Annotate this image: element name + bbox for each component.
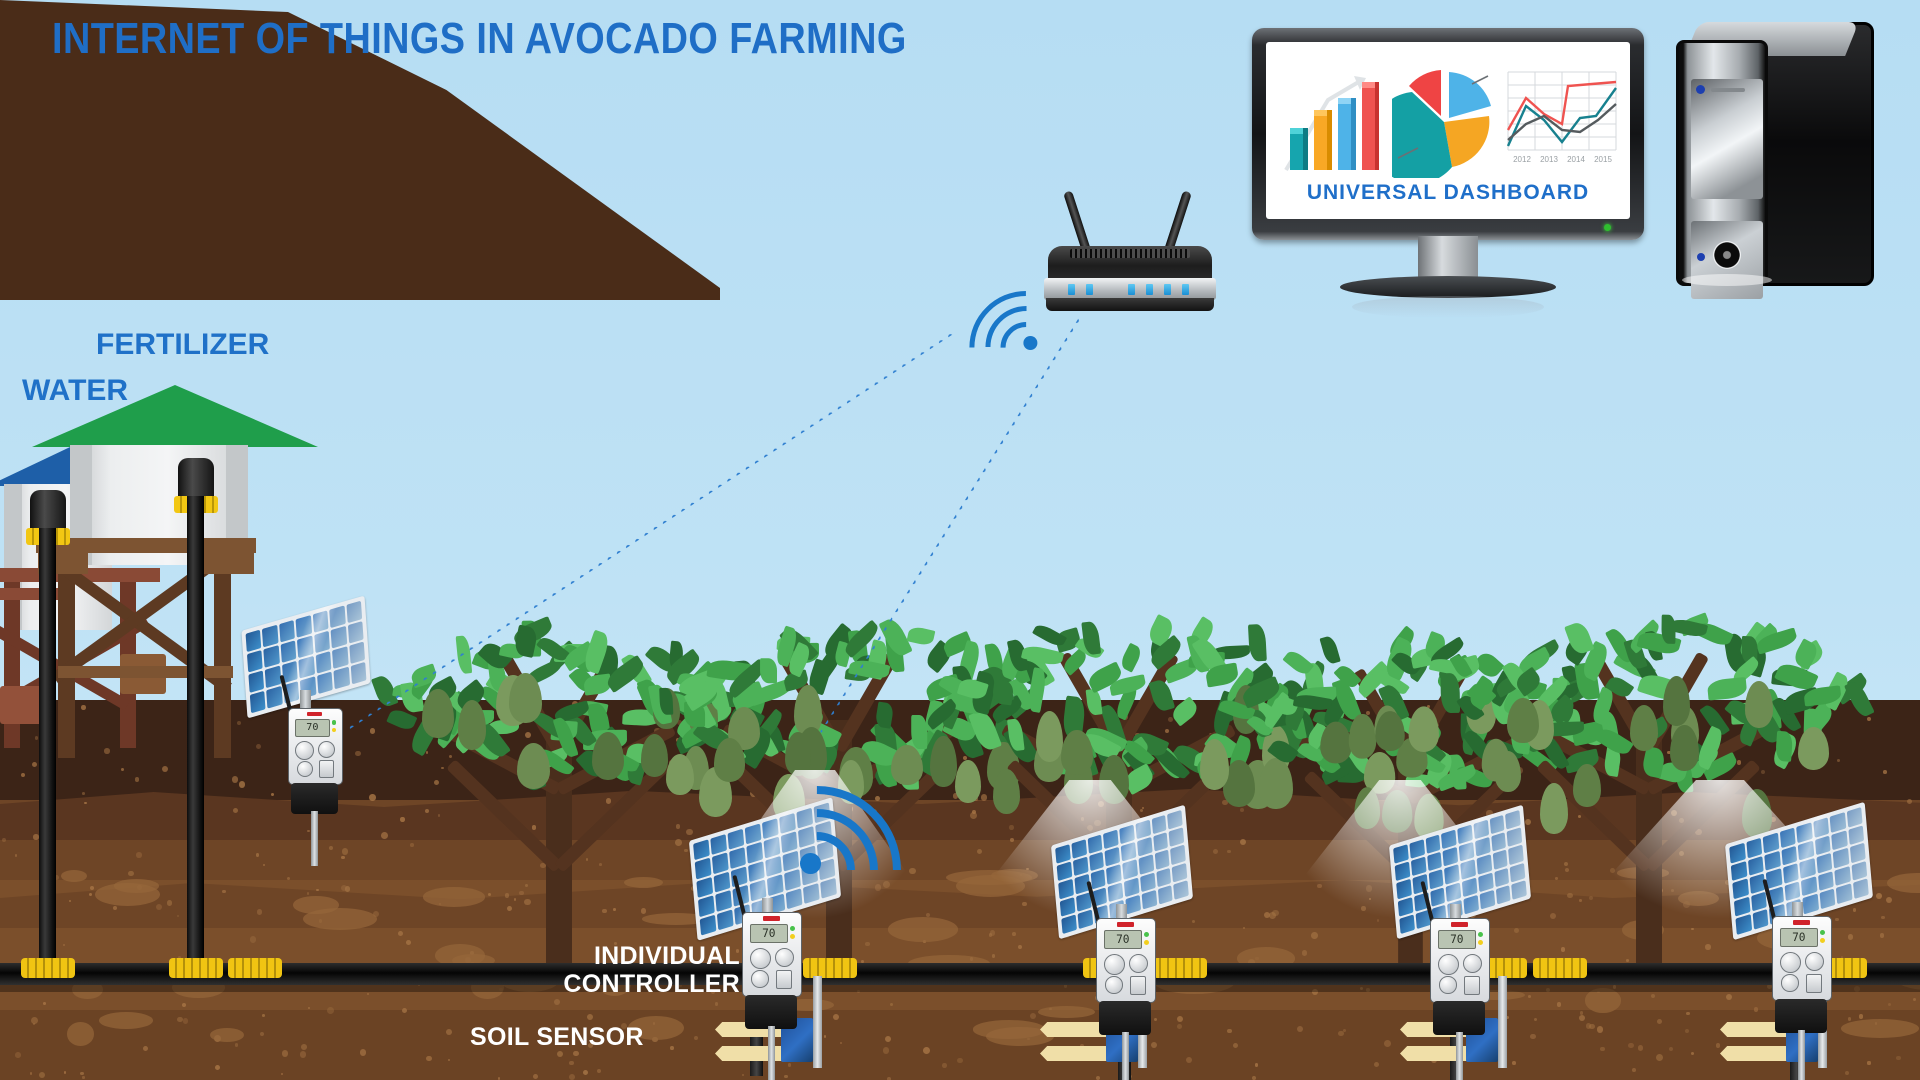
controller-valve-body: [1775, 999, 1827, 1033]
desktop-monitor[interactable]: 2012 2013 2014 2015 UNIVERSAL DASHBOARD: [1252, 28, 1644, 288]
router-led-3: [1128, 284, 1135, 295]
controller-dial-left[interactable]: [1780, 952, 1801, 973]
monitor-power-led: [1604, 224, 1611, 231]
pipe-fitting: [1153, 958, 1207, 978]
svg-text:2013: 2013: [1540, 155, 1558, 164]
router-vents: [1070, 249, 1190, 258]
pc-front-panel: [1676, 40, 1768, 286]
controller-dial-bottom[interactable]: [1439, 976, 1456, 993]
avocado-fruit: [1745, 681, 1774, 729]
server-tower[interactable]: [1672, 22, 1868, 290]
avocado-fruit: [422, 689, 453, 738]
pc-optical-bay: [1691, 79, 1763, 199]
controller-dial-left[interactable]: [1438, 954, 1459, 975]
tree-leaf: [1118, 643, 1143, 673]
wifi-icon-router: [975, 300, 1037, 355]
controller-brand-bar: [307, 712, 323, 716]
avocado-fruit: [517, 743, 550, 789]
individual-controller[interactable]: 70: [288, 708, 343, 825]
controller-indicator-yellow: [1144, 940, 1149, 945]
wireless-router[interactable]: [1040, 190, 1220, 310]
fertilizer-tank-roof: [32, 385, 318, 447]
avocado-fruit: [458, 700, 487, 749]
controller-brand-bar: [1451, 922, 1468, 926]
controller-mount-stem: [1798, 1030, 1805, 1080]
controller-dial-right[interactable]: [775, 948, 794, 967]
controller-brand-bar: [1117, 922, 1134, 926]
label-individual-controller: INDIVIDUAL CONTROLLER: [520, 942, 740, 998]
controller-dial-left[interactable]: [295, 741, 314, 760]
label-soil-sensor: SOIL SENSOR: [470, 1023, 740, 1051]
controller-dial-left[interactable]: [750, 948, 771, 969]
controller-valve-body: [291, 783, 338, 814]
pc-status-led-top: [1696, 85, 1705, 94]
avocado-fruit: [1375, 711, 1404, 752]
pc-base-shadow: [1682, 274, 1772, 286]
supply-pipe-right: [187, 496, 204, 968]
tree-leaf: [1282, 648, 1313, 677]
controller-button[interactable]: [319, 760, 333, 778]
soil-sensor-tube: [1498, 976, 1507, 1068]
label-controller-line1: INDIVIDUAL: [520, 942, 740, 970]
controller-mount-stem: [1456, 1032, 1463, 1080]
controller-mount-stem: [311, 811, 317, 866]
controller-button[interactable]: [1806, 974, 1822, 993]
controller-indicator-yellow: [1478, 940, 1483, 945]
avocado-fruit: [714, 738, 746, 782]
individual-controller[interactable]: 70: [1430, 918, 1490, 1047]
page-title: INTERNET OF THINGS IN AVOCADO FARMING: [52, 14, 907, 64]
controller-dial-bottom[interactable]: [297, 761, 313, 777]
avocado-fruit: [1348, 714, 1375, 759]
controller-dial-left[interactable]: [1104, 954, 1125, 975]
supply-pipe-left: [39, 528, 56, 968]
svg-text:2014: 2014: [1567, 155, 1585, 164]
controller-button[interactable]: [776, 970, 792, 989]
controller-display: 70: [295, 719, 330, 737]
main-irrigation-pipe: [0, 963, 1920, 985]
controller-valve-body: [1099, 1001, 1151, 1035]
pc-drive-slot: [1711, 88, 1745, 92]
avocado-fruit: [1036, 711, 1063, 762]
monitor-stand: [1340, 276, 1556, 298]
avocado-fruit: [509, 673, 542, 722]
soil-sensor-tube: [813, 976, 822, 1068]
controller-display: 70: [1438, 930, 1476, 949]
monitor-screen[interactable]: 2012 2013 2014 2015 UNIVERSAL DASHBOARD: [1266, 42, 1630, 219]
controller-button[interactable]: [1130, 976, 1146, 995]
tree-leaf: [992, 679, 1015, 706]
tree-leaf: [1148, 678, 1175, 713]
router-led-1: [1068, 284, 1075, 295]
individual-controller[interactable]: 70: [1096, 918, 1156, 1047]
avocado-fruit: [1573, 764, 1601, 807]
label-controller-line2: CONTROLLER: [520, 970, 740, 998]
controller-button[interactable]: [1464, 976, 1480, 995]
router-led-6: [1182, 284, 1189, 295]
controller-dial-bottom[interactable]: [1781, 974, 1798, 991]
pipe-fitting: [803, 958, 857, 978]
controller-valve-body: [1433, 1001, 1485, 1035]
fertilizer-tower-trestle: [36, 538, 256, 758]
pipe-fitting: [169, 958, 223, 978]
controller-dial-bottom[interactable]: [751, 970, 768, 987]
avocado-fruit: [1495, 751, 1521, 792]
label-fertilizer: FERTILIZER: [96, 328, 269, 362]
controller-indicator-yellow: [1820, 938, 1825, 943]
controller-display: 70: [1780, 928, 1818, 947]
tree-leaf: [1319, 635, 1340, 665]
dashboard-line-chart: 2012 2013 2014 2015: [1506, 68, 1618, 178]
tree-leaf: [760, 658, 777, 683]
controller-mount-stem: [768, 1026, 775, 1080]
tree-leaf: [659, 688, 673, 715]
main-pipe-shadow: [0, 985, 1920, 992]
soil-sensor-prong-bottom: [1040, 1046, 1112, 1061]
pipe-fitting: [21, 958, 75, 978]
pipe-fitting: [1533, 958, 1587, 978]
pipe-fitting: [228, 958, 282, 978]
controller-valve-body: [745, 995, 797, 1029]
soil-sensor-prong-bottom: [1720, 1046, 1792, 1061]
wifi-icon-field: [800, 800, 892, 881]
svg-text:2015: 2015: [1594, 155, 1612, 164]
avocado-fruit: [1061, 730, 1092, 774]
controller-dial-bottom[interactable]: [1105, 976, 1122, 993]
dashboard-title: UNIVERSAL DASHBOARD: [1266, 181, 1630, 205]
controller-mount-stem: [1122, 1032, 1129, 1080]
dashboard-bar-chart: [1280, 70, 1380, 178]
controller-dial-right[interactable]: [1463, 954, 1482, 973]
avocado-fruit: [1798, 727, 1830, 770]
router-led-5: [1164, 284, 1171, 295]
tree-leaf: [1266, 736, 1298, 766]
svg-text:2012: 2012: [1513, 155, 1531, 164]
controller-brand-bar: [1793, 920, 1810, 924]
tree-leaf: [1027, 668, 1048, 714]
infographic-canvas: INTERNET OF THINGS IN AVOCADO FARMING FE…: [0, 0, 1920, 1080]
router-base: [1046, 298, 1214, 311]
tree-leaf: [1707, 677, 1747, 700]
monitor-reflection: [1352, 296, 1544, 318]
tree-leaf: [1032, 621, 1068, 649]
router-led-4: [1146, 284, 1153, 295]
pc-status-led-bottom: [1697, 253, 1705, 261]
avocado-fruit: [1630, 705, 1658, 751]
avocado-fruit: [1320, 722, 1351, 764]
controller-dial-right[interactable]: [1805, 952, 1824, 971]
controller-display: 70: [1104, 930, 1142, 949]
individual-controller[interactable]: 70: [1772, 916, 1832, 1045]
router-led-2: [1086, 284, 1093, 295]
avocado-fruit: [785, 732, 811, 776]
pc-power-button[interactable]: [1713, 241, 1741, 269]
dashboard-pie-chart: [1392, 66, 1498, 178]
controller-dial-right[interactable]: [1129, 954, 1148, 973]
